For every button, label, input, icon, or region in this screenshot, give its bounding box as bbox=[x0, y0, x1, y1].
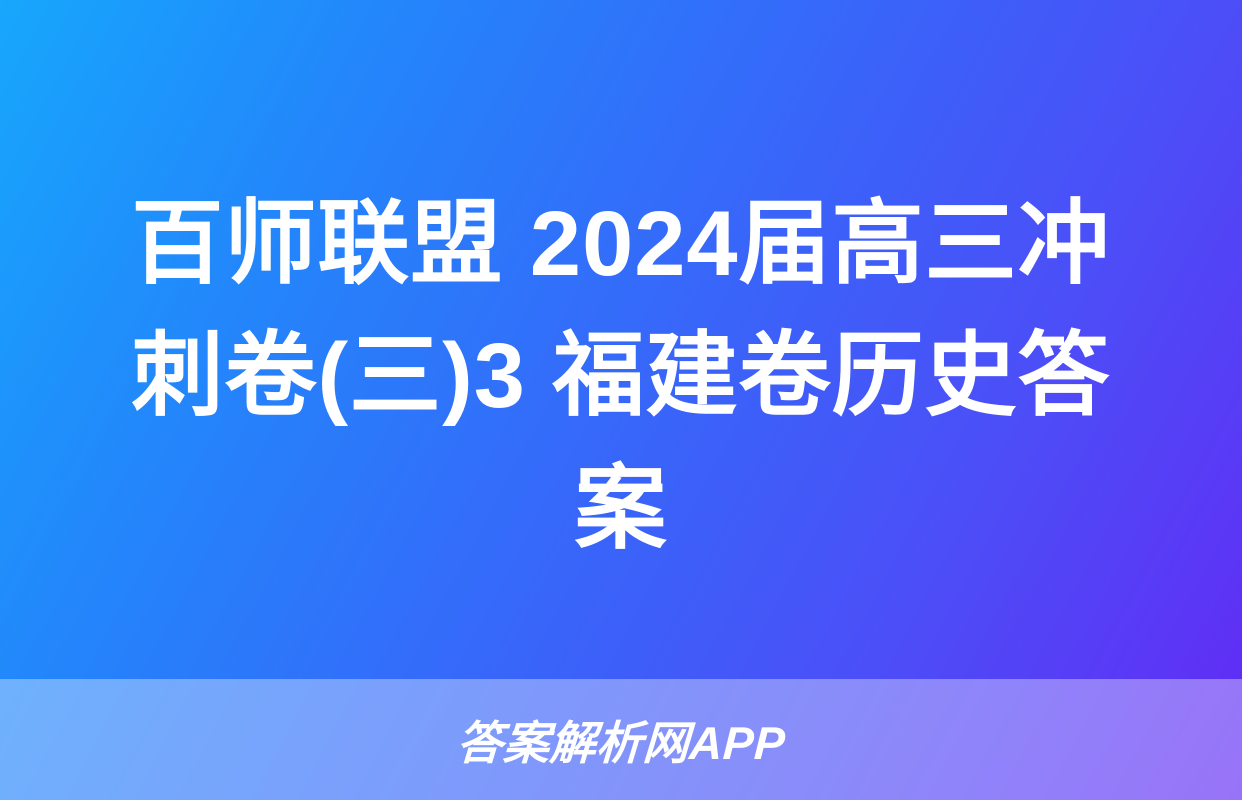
page-title: 百师联盟 2024届高三冲 刺卷(三)3 福建卷历史答 案 bbox=[0, 178, 1242, 575]
watermark-band: 答案解析网APP bbox=[0, 679, 1242, 800]
title-line-1: 百师联盟 2024届高三冲 bbox=[62, 178, 1180, 310]
watermark-label: 答案解析网APP bbox=[455, 707, 787, 773]
title-line-3: 案 bbox=[62, 443, 1180, 575]
title-line-2: 刺卷(三)3 福建卷历史答 bbox=[62, 310, 1180, 442]
cover-card: 百师联盟 2024届高三冲 刺卷(三)3 福建卷历史答 案 答案解析网APP bbox=[0, 0, 1242, 800]
